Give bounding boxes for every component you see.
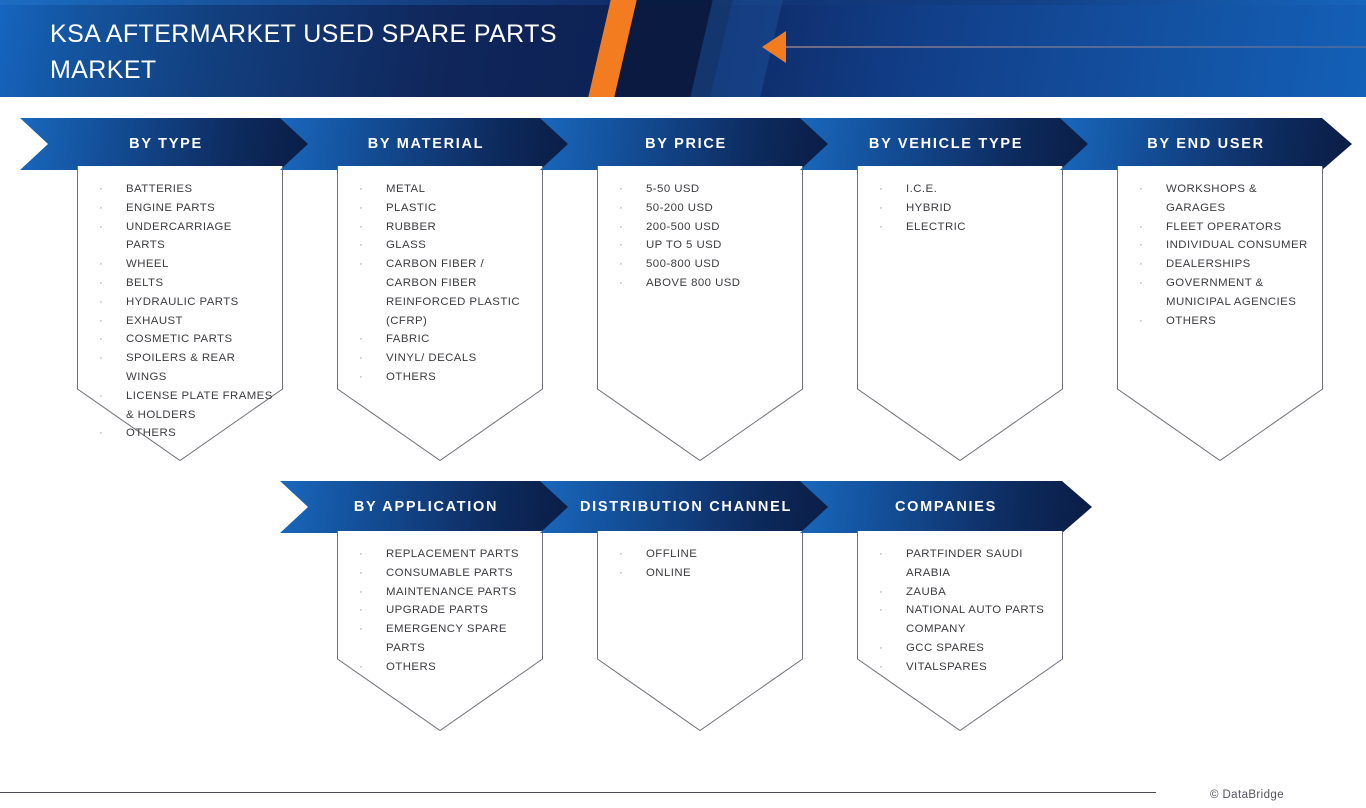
list-item-label: BELTS <box>126 277 164 289</box>
bullet-icon: · <box>619 545 623 564</box>
list-item-label: 500-800 USD <box>646 258 720 270</box>
list-item-label: OTHERS <box>386 661 436 673</box>
list-item[interactable]: ·RUBBER <box>359 218 533 237</box>
list-item-label: GLASS <box>386 239 426 251</box>
bullet-icon: · <box>99 180 103 199</box>
segment-banner-by-application[interactable] <box>280 481 572 533</box>
list-item-label: ELECTRIC <box>906 221 966 233</box>
bullet-icon: · <box>1139 218 1143 237</box>
bullet-icon: · <box>359 199 363 218</box>
bullet-icon: · <box>359 218 363 237</box>
bullet-icon: · <box>99 199 103 218</box>
list-item-label: 5-50 USD <box>646 183 700 195</box>
segment-banner-by-end-user[interactable] <box>1060 118 1352 170</box>
list-item-label: UP TO 5 USD <box>646 239 722 251</box>
segment-banner-by-material[interactable] <box>280 118 572 170</box>
list-item[interactable]: ·OTHERS <box>1139 312 1313 331</box>
list-item[interactable]: ·CONSUMABLE PARTS <box>359 564 533 583</box>
list-item[interactable]: ·WORKSHOPS & GARAGES <box>1139 180 1313 218</box>
segment-card-distribution-channel: ·OFFLINE·ONLINE <box>597 531 803 731</box>
bullet-icon: · <box>359 601 363 620</box>
list-item[interactable]: ·GOVERNMENT & MUNICIPAL AGENCIES <box>1139 274 1313 312</box>
bullet-icon: · <box>359 330 363 349</box>
segment-list-by-vehicle-type: ·I.C.E.·HYBRID·ELECTRIC <box>879 180 1053 236</box>
list-item-label: CONSUMABLE PARTS <box>386 567 513 579</box>
list-item[interactable]: ·HYBRID <box>879 199 1053 218</box>
list-item-label: OTHERS <box>1166 315 1216 327</box>
list-item[interactable]: ·SPOILERS & REAR WINGS <box>99 349 273 387</box>
segment-list-by-application: ·REPLACEMENT PARTS·CONSUMABLE PARTS·MAIN… <box>359 545 533 677</box>
segment-banner-by-vehicle-type[interactable] <box>800 118 1092 170</box>
bullet-icon: · <box>1139 274 1143 293</box>
list-item[interactable]: ·ENGINE PARTS <box>99 199 273 218</box>
list-item[interactable]: ·ELECTRIC <box>879 218 1053 237</box>
bullet-icon: · <box>359 368 363 387</box>
bullet-icon: · <box>359 620 363 639</box>
list-item[interactable]: ·50-200 USD <box>619 199 793 218</box>
list-item[interactable]: ·PARTFINDER SAUDI ARABIA <box>879 545 1053 583</box>
bullet-icon: · <box>1139 180 1143 199</box>
list-item-label: OFFLINE <box>646 548 697 560</box>
page-title: KSA AFTERMARKET USED SPARE PARTS MARKET <box>50 16 650 88</box>
bullet-icon: · <box>359 658 363 677</box>
list-item[interactable]: ·BATTERIES <box>99 180 273 199</box>
bullet-icon: · <box>879 180 883 199</box>
segment-list-distribution-channel: ·OFFLINE·ONLINE <box>619 545 793 583</box>
list-item[interactable]: ·OTHERS <box>359 658 533 677</box>
bullet-icon: · <box>359 583 363 602</box>
page-header: KSA AFTERMARKET USED SPARE PARTS MARKET <box>0 0 1366 97</box>
list-item[interactable]: ·FABRIC <box>359 330 533 349</box>
list-item-label: OTHERS <box>126 427 176 439</box>
list-item-label: UNDERCARRIAGE PARTS <box>126 221 232 252</box>
segment-card-by-type: ·BATTERIES·ENGINE PARTS·UNDERCARRIAGE PA… <box>77 166 283 461</box>
list-item[interactable]: ·VITALSPARES <box>879 658 1053 677</box>
list-item[interactable]: ·HYDRAULIC PARTS <box>99 293 273 312</box>
bullet-icon: · <box>879 639 883 658</box>
footer-divider <box>0 792 1156 793</box>
bullet-icon: · <box>619 255 623 274</box>
bullet-icon: · <box>619 274 623 293</box>
list-item[interactable]: ·INDIVIDUAL CONSUMER <box>1139 236 1313 255</box>
bullet-icon: · <box>1139 236 1143 255</box>
list-item[interactable]: ·OTHERS <box>99 424 273 443</box>
list-item[interactable]: ·METAL <box>359 180 533 199</box>
bullet-icon: · <box>99 274 103 293</box>
list-item[interactable]: ·UPGRADE PARTS <box>359 601 533 620</box>
list-item[interactable]: ·FLEET OPERATORS <box>1139 218 1313 237</box>
segment-list-by-material: ·METAL·PLASTIC·RUBBER·GLASS·CARBON FIBER… <box>359 180 533 387</box>
list-item-label: GOVERNMENT & MUNICIPAL AGENCIES <box>1166 277 1296 308</box>
list-item[interactable]: ·BELTS <box>99 274 273 293</box>
bullet-icon: · <box>879 583 883 602</box>
bullet-icon: · <box>879 218 883 237</box>
list-item-label: PLASTIC <box>386 202 437 214</box>
list-item[interactable]: ·NATIONAL AUTO PARTS COMPANY <box>879 601 1053 639</box>
segment-list-by-price: ·5-50 USD·50-200 USD·200-500 USD·UP TO 5… <box>619 180 793 293</box>
bullet-icon: · <box>619 199 623 218</box>
list-item-label: MAINTENANCE PARTS <box>386 586 517 598</box>
segment-banner-distribution-channel[interactable] <box>540 481 832 533</box>
list-item[interactable]: ·OTHERS <box>359 368 533 387</box>
list-item[interactable]: ·PLASTIC <box>359 199 533 218</box>
list-item-label: I.C.E. <box>906 183 937 195</box>
bullet-icon: · <box>99 312 103 331</box>
list-item-label: ENGINE PARTS <box>126 202 215 214</box>
segment-card-by-end-user: ·WORKSHOPS & GARAGES·FLEET OPERATORS·IND… <box>1117 166 1323 461</box>
list-item-label: INDIVIDUAL CONSUMER <box>1166 239 1308 251</box>
list-item-label: ONLINE <box>646 567 691 579</box>
list-item[interactable]: ·UP TO 5 USD <box>619 236 793 255</box>
bullet-icon: · <box>359 180 363 199</box>
list-item-label: PARTFINDER SAUDI ARABIA <box>906 548 1023 579</box>
bullet-icon: · <box>619 218 623 237</box>
list-item[interactable]: ·REPLACEMENT PARTS <box>359 545 533 564</box>
bullet-icon: · <box>99 387 103 406</box>
segment-card-by-price: ·5-50 USD·50-200 USD·200-500 USD·UP TO 5… <box>597 166 803 461</box>
list-item-label: RUBBER <box>386 221 436 233</box>
bullet-icon: · <box>99 330 103 349</box>
list-item[interactable]: ·COSMETIC PARTS <box>99 330 273 349</box>
segment-list-by-end-user: ·WORKSHOPS & GARAGES·FLEET OPERATORS·IND… <box>1139 180 1313 330</box>
list-item-label: WORKSHOPS & GARAGES <box>1166 183 1257 214</box>
list-item-label: NATIONAL AUTO PARTS COMPANY <box>906 604 1044 635</box>
bullet-icon: · <box>99 218 103 237</box>
list-item[interactable]: ·OFFLINE <box>619 545 793 564</box>
segment-card-companies: ·PARTFINDER SAUDI ARABIA·ZAUBA·NATIONAL … <box>857 531 1063 731</box>
segment-banner-by-type[interactable] <box>20 118 312 170</box>
bullet-icon: · <box>1139 255 1143 274</box>
list-item-label: LICENSE PLATE FRAMES & HOLDERS <box>126 390 273 421</box>
list-item[interactable]: ·500-800 USD <box>619 255 793 274</box>
footer-credit: © DataBridge <box>1210 789 1284 801</box>
list-item[interactable]: ·I.C.E. <box>879 180 1053 199</box>
list-item[interactable]: ·EXHAUST <box>99 312 273 331</box>
bullet-icon: · <box>879 545 883 564</box>
bullet-icon: · <box>359 349 363 368</box>
bullet-icon: · <box>99 349 103 368</box>
bullet-icon: · <box>879 658 883 677</box>
segment-card-by-vehicle-type: ·I.C.E.·HYBRID·ELECTRIC <box>857 166 1063 461</box>
list-item-label: SPOILERS & REAR WINGS <box>126 352 235 383</box>
bullet-icon: · <box>619 180 623 199</box>
list-item-label: UPGRADE PARTS <box>386 604 488 616</box>
bullet-icon: · <box>99 293 103 312</box>
list-item[interactable]: ·ONLINE <box>619 564 793 583</box>
list-item[interactable]: ·LICENSE PLATE FRAMES & HOLDERS <box>99 387 273 425</box>
bullet-icon: · <box>619 236 623 255</box>
list-item[interactable]: ·200-500 USD <box>619 218 793 237</box>
list-item-label: VITALSPARES <box>906 661 987 673</box>
segment-banner-by-price[interactable] <box>540 118 832 170</box>
list-item-label: DEALERSHIPS <box>1166 258 1251 270</box>
list-item[interactable]: ·UNDERCARRIAGE PARTS <box>99 218 273 256</box>
list-item-label: CARBON FIBER / CARBON FIBER REINFORCED P… <box>386 258 520 326</box>
list-item-label: 50-200 USD <box>646 202 713 214</box>
list-item-label: ABOVE 800 USD <box>646 277 740 289</box>
list-item-label: EMERGENCY SPARE PARTS <box>386 623 507 654</box>
list-item-label: ZAUBA <box>906 586 946 598</box>
list-item-label: VINYL/ DECALS <box>386 352 477 364</box>
list-item-label: REPLACEMENT PARTS <box>386 548 519 560</box>
list-item[interactable]: ·CARBON FIBER / CARBON FIBER REINFORCED … <box>359 255 533 330</box>
list-item-label: OTHERS <box>386 371 436 383</box>
segment-card-by-material: ·METAL·PLASTIC·RUBBER·GLASS·CARBON FIBER… <box>337 166 543 461</box>
bullet-icon: · <box>99 424 103 443</box>
left-arrow-icon <box>762 31 786 63</box>
segment-card-by-application: ·REPLACEMENT PARTS·CONSUMABLE PARTS·MAIN… <box>337 531 543 731</box>
list-item-label: 200-500 USD <box>646 221 720 233</box>
list-item-label: COSMETIC PARTS <box>126 333 233 345</box>
list-item[interactable]: ·DEALERSHIPS <box>1139 255 1313 274</box>
list-item-label: FLEET OPERATORS <box>1166 221 1282 233</box>
list-item-label: WHEEL <box>126 258 169 270</box>
bullet-icon: · <box>879 199 883 218</box>
list-item-label: HYDRAULIC PARTS <box>126 296 239 308</box>
list-item[interactable]: ·VINYL/ DECALS <box>359 349 533 368</box>
list-item[interactable]: ·MAINTENANCE PARTS <box>359 583 533 602</box>
list-item[interactable]: ·ZAUBA <box>879 583 1053 602</box>
list-item[interactable]: ·WHEEL <box>99 255 273 274</box>
bullet-icon: · <box>359 564 363 583</box>
bullet-icon: · <box>359 545 363 564</box>
list-item-label: METAL <box>386 183 425 195</box>
list-item-label: FABRIC <box>386 333 430 345</box>
segment-banner-companies[interactable] <box>800 481 1092 533</box>
list-item[interactable]: ·5-50 USD <box>619 180 793 199</box>
list-item[interactable]: ·ABOVE 800 USD <box>619 274 793 293</box>
list-item-label: HYBRID <box>906 202 952 214</box>
bullet-icon: · <box>359 255 363 274</box>
list-item-label: GCC SPARES <box>906 642 984 654</box>
list-item[interactable]: ·GLASS <box>359 236 533 255</box>
list-item-label: BATTERIES <box>126 183 193 195</box>
bullet-icon: · <box>359 236 363 255</box>
bullet-icon: · <box>1139 312 1143 331</box>
list-item[interactable]: ·EMERGENCY SPARE PARTS <box>359 620 533 658</box>
list-item-label: EXHAUST <box>126 315 183 327</box>
segment-list-by-type: ·BATTERIES·ENGINE PARTS·UNDERCARRIAGE PA… <box>99 180 273 443</box>
bullet-icon: · <box>879 601 883 620</box>
bullet-icon: · <box>99 255 103 274</box>
header-rule-line <box>782 46 1366 48</box>
segment-list-companies: ·PARTFINDER SAUDI ARABIA·ZAUBA·NATIONAL … <box>879 545 1053 677</box>
bullet-icon: · <box>619 564 623 583</box>
list-item[interactable]: ·GCC SPARES <box>879 639 1053 658</box>
